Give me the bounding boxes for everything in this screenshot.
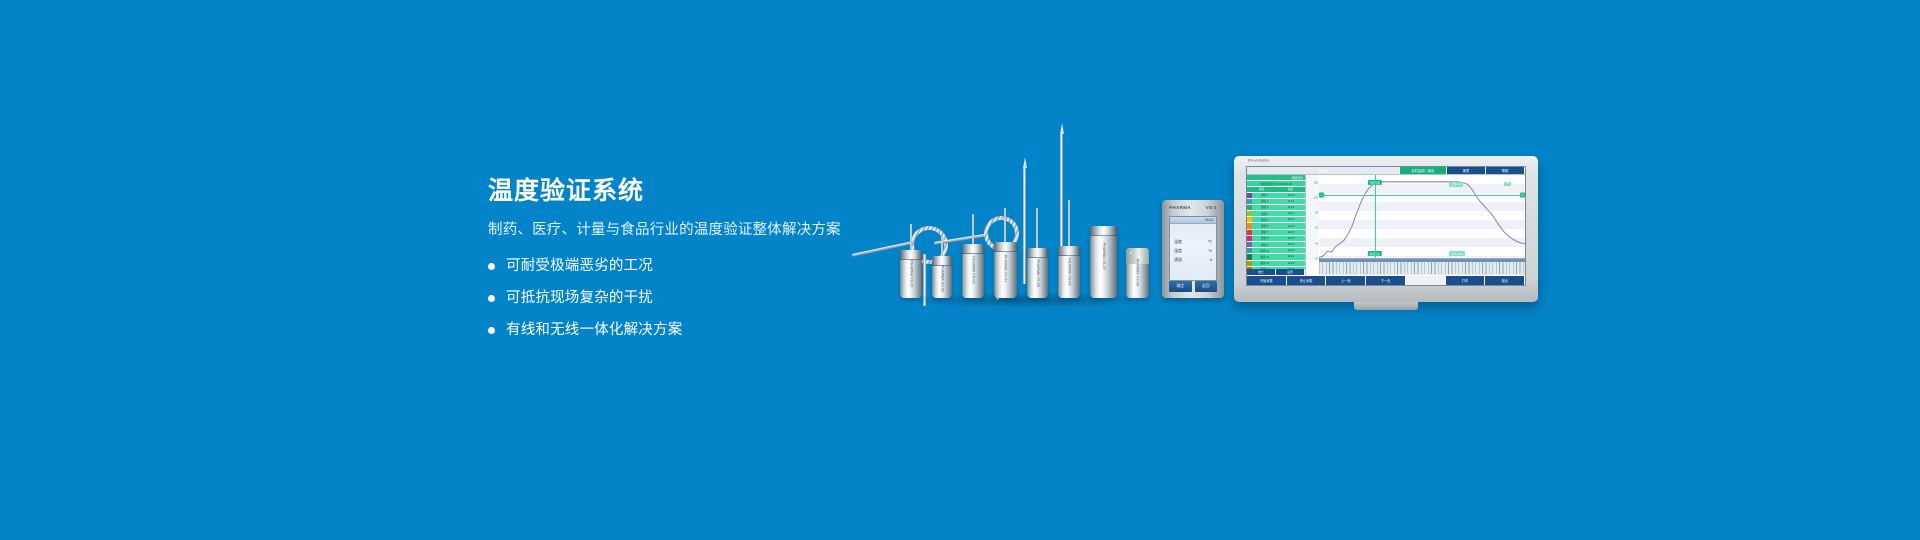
handheld-row-value: ℃ bbox=[1208, 239, 1213, 245]
monitor-body: 通道列表 温度验证记录 2024-05-18 通道 温度 通道 1121.3通道… bbox=[1247, 175, 1525, 275]
handheld-row-label: 湿度 bbox=[1174, 248, 1182, 254]
list-item: 可抵抗现场复杂的干扰 bbox=[488, 288, 908, 308]
monitor-toolbar: 布点图 实时曲线 / 报告 报表 帮助 bbox=[1247, 167, 1525, 175]
logger-lead-wire bbox=[1004, 208, 1006, 242]
chart-y-tick-label: 120 bbox=[1314, 181, 1318, 184]
channel-name: 通道 2 bbox=[1252, 199, 1277, 203]
channel-value: 121.0 bbox=[1277, 231, 1305, 234]
chart-y-axis: 20406080100120 bbox=[1306, 175, 1320, 259]
chart-marker-chip: 平均 121.2 bbox=[1449, 251, 1465, 256]
logger-lead-wire bbox=[972, 214, 974, 244]
column-header-value: 温度 bbox=[1276, 187, 1305, 192]
monitor-screen: 布点图 实时曲线 / 报告 报表 帮助 通道列表 温度验证记录 2024-05-… bbox=[1246, 166, 1526, 286]
chart-marker-chip: F0 bbox=[1504, 182, 1511, 186]
hero-banner: 温度验证系统 制药、医疗、计量与食品行业的温度验证整体解决方案 可耐受极端恶劣的… bbox=[0, 0, 1920, 540]
tab-realtime-curve[interactable]: 实时曲线 / 报告 bbox=[1400, 167, 1447, 174]
channel-value: 121.1 bbox=[1277, 255, 1305, 258]
logger-label: PHARMA VS-03 bbox=[971, 257, 976, 271]
logger-label: PHARMA VS-05 bbox=[1035, 260, 1040, 273]
logger-lead-wire bbox=[941, 236, 943, 256]
chart-limit-line bbox=[1319, 195, 1525, 196]
monitor-status-bar: 开始采集停止采集上一页下一页打印退出 bbox=[1247, 275, 1525, 285]
handheld-data-row: 湿度 % bbox=[1170, 246, 1216, 255]
handheld-reader-device[interactable]: PHARMA VS-1 READ 温度 ℃ 湿度 % 通道 8 bbox=[1162, 200, 1224, 298]
bullet-dot-icon bbox=[488, 295, 495, 302]
status-button[interactable]: 停止采集 bbox=[1287, 276, 1327, 285]
logger-cap bbox=[994, 242, 1017, 252]
logger-cap bbox=[900, 250, 922, 260]
logger-8-filter: PHARMA VS-08 bbox=[1126, 248, 1149, 298]
channel-value: 121.8 bbox=[1277, 262, 1305, 265]
monitor-workstation: PHARMA 布点图 实时曲线 / 报告 报表 帮助 通道列表 温度验证记录 2… bbox=[1234, 156, 1538, 302]
chart-y-tick-label: 40 bbox=[1315, 242, 1318, 245]
handheld-keypad: 确定 返回 bbox=[1169, 281, 1217, 292]
logger-label: PHARMA VS-06 bbox=[1067, 258, 1072, 272]
logger-cap bbox=[1058, 246, 1080, 256]
status-button[interactable] bbox=[1406, 276, 1446, 285]
handheld-key-confirm[interactable]: 确定 bbox=[1169, 281, 1192, 292]
handheld-row-value: 8 bbox=[1210, 257, 1212, 263]
logger-label: PHARMA VS-07 bbox=[1101, 243, 1106, 260]
channel-name: 通道 6 bbox=[1252, 224, 1277, 228]
bullet-dot-icon bbox=[488, 327, 495, 334]
monitor-brand-label: PHARMA bbox=[1248, 158, 1270, 163]
logger-lead-wire bbox=[1036, 208, 1038, 248]
logger-label: PHARMA VS-01 bbox=[909, 261, 914, 275]
channel-table-rows[interactable]: 通道 1121.3通道 2121.1通道 3121.4通道 4121.7通道 5… bbox=[1247, 193, 1305, 270]
handheld-brand-row: PHARMA VS-1 bbox=[1162, 205, 1224, 210]
channel-value: 121.6 bbox=[1277, 243, 1305, 246]
tab-help[interactable]: 帮助 bbox=[1486, 167, 1525, 174]
page-title: 温度验证系统 bbox=[488, 176, 908, 206]
list-item-label: 可耐受极端恶劣的工况 bbox=[506, 256, 653, 276]
channel-value: 121.5 bbox=[1277, 225, 1305, 228]
logger-4: PHARMA VS-04 bbox=[994, 242, 1017, 298]
logger-lead-wire bbox=[910, 224, 912, 250]
channel-name: 通道 5 bbox=[1252, 218, 1277, 222]
chart-y-tick-label: 20 bbox=[1315, 258, 1318, 261]
handheld-brand-right: VS-1 bbox=[1206, 205, 1217, 210]
tab-layout[interactable]: 布点图 bbox=[1247, 167, 1400, 174]
handheld-screen: READ 温度 ℃ 湿度 % 通道 8 bbox=[1169, 216, 1217, 281]
bullet-dot-icon bbox=[488, 263, 495, 270]
channel-name: 通道 10 bbox=[1252, 249, 1277, 253]
channel-name: 通道 12 bbox=[1252, 261, 1277, 265]
logger-cap bbox=[1090, 226, 1117, 236]
chart-y-tick-label: 60 bbox=[1315, 227, 1318, 230]
channel-name: 通道 11 bbox=[1252, 255, 1277, 259]
logger-label: PHARMA VS-04 bbox=[1003, 255, 1008, 270]
handheld-row-value: % bbox=[1208, 248, 1212, 254]
list-item-label: 可抵抗现场复杂的干扰 bbox=[506, 288, 653, 308]
chart-plot-area[interactable]: 开始灭菌保温结束上限 121平均 121.2F0LR bbox=[1319, 175, 1525, 259]
channel-name: 通道 3 bbox=[1252, 205, 1277, 209]
logger-cap bbox=[962, 244, 984, 254]
chart-x-axis bbox=[1319, 258, 1525, 275]
channel-name: 通道 1 bbox=[1252, 193, 1277, 197]
chart-y-tick-label: 80 bbox=[1315, 212, 1318, 215]
channel-value: 121.7 bbox=[1277, 212, 1305, 215]
channel-value: 121.4 bbox=[1277, 206, 1305, 209]
monitor-stand bbox=[1354, 302, 1418, 310]
hero-feature-list: 可耐受极端恶劣的工况 可抵抗现场复杂的干扰 有线和无线一体化解决方案 bbox=[488, 256, 908, 340]
logger-2: PHARMA VS-02 bbox=[932, 256, 952, 298]
status-button[interactable]: 下一页 bbox=[1366, 276, 1406, 285]
channel-value: 121.3 bbox=[1277, 194, 1305, 197]
product-image-group: PHARMA VS-01 PHARMA VS-02 PHARMA VS-03 P… bbox=[900, 120, 1560, 420]
logger-7: PHARMA VS-07 bbox=[1090, 226, 1117, 298]
chart-line-series bbox=[1319, 175, 1525, 259]
logger-1: PHARMA VS-01 bbox=[900, 250, 922, 298]
logger-cap bbox=[1027, 248, 1048, 258]
hero-subtitle: 制药、医疗、计量与食品行业的温度验证整体解决方案 bbox=[488, 220, 908, 240]
handheld-screen-titlebar: READ bbox=[1170, 217, 1216, 224]
channel-name: 通道 9 bbox=[1252, 243, 1277, 247]
handheld-data-row: 通道 8 bbox=[1170, 255, 1216, 264]
logger-5: PHARMA VS-05 bbox=[1027, 248, 1048, 298]
column-header-channel: 通道 bbox=[1247, 187, 1276, 192]
channel-value: 121.3 bbox=[1277, 249, 1305, 252]
tab-report[interactable]: 报表 bbox=[1447, 167, 1486, 174]
temperature-chart: 20406080100120 开始灭菌保温结束上限 121平均 121.2F0L… bbox=[1306, 175, 1525, 275]
status-button[interactable]: 打印 bbox=[1446, 276, 1486, 285]
list-item: 有线和无线一体化解决方案 bbox=[488, 320, 908, 340]
channel-name: 通道 4 bbox=[1252, 212, 1277, 216]
logger-label: PHARMA VS-08 bbox=[1135, 259, 1140, 274]
list-item-label: 有线和无线一体化解决方案 bbox=[506, 320, 682, 340]
chart-cursor-line[interactable] bbox=[1375, 175, 1376, 259]
status-button[interactable]: 开始采集 bbox=[1247, 276, 1287, 285]
status-button[interactable]: 上一页 bbox=[1326, 276, 1366, 285]
handheld-brand-left: PHARMA bbox=[1169, 205, 1191, 210]
handheld-screen-title: READ bbox=[1205, 218, 1214, 222]
chart-marker-chip: 上限 121 bbox=[1449, 182, 1463, 187]
handheld-key-back[interactable]: 返回 bbox=[1195, 281, 1218, 292]
channel-name: 通道 7 bbox=[1252, 230, 1277, 234]
hero-text-block: 温度验证系统 制药、医疗、计量与食品行业的温度验证整体解决方案 可耐受极端恶劣的… bbox=[488, 176, 908, 352]
chart-x-ticks bbox=[1319, 261, 1525, 274]
logger-3: PHARMA VS-03 bbox=[962, 244, 984, 298]
status-button[interactable]: 退出 bbox=[1485, 276, 1525, 285]
channel-value: 121.1 bbox=[1277, 200, 1305, 203]
channel-name: 通道 8 bbox=[1252, 236, 1277, 240]
needle-probe-short-icon bbox=[1023, 168, 1026, 284]
chart-y-tick-label: 100 bbox=[1314, 196, 1318, 199]
logger-lead-wire bbox=[1068, 200, 1070, 246]
logger-label: PHARMA VS-02 bbox=[940, 265, 945, 278]
channel-value: 121.2 bbox=[1277, 218, 1305, 221]
logger-6: PHARMA VS-06 bbox=[1058, 246, 1080, 298]
handheld-row-label: 通道 bbox=[1174, 257, 1182, 263]
list-item: 可耐受极端恶劣的工况 bbox=[488, 256, 908, 276]
handheld-data-row: 温度 ℃ bbox=[1170, 237, 1216, 246]
handheld-row-label: 温度 bbox=[1174, 239, 1182, 245]
channel-sidebar: 通道列表 温度验证记录 2024-05-18 通道 温度 通道 1121.3通道… bbox=[1247, 175, 1306, 275]
channel-value: 120.9 bbox=[1277, 237, 1305, 240]
